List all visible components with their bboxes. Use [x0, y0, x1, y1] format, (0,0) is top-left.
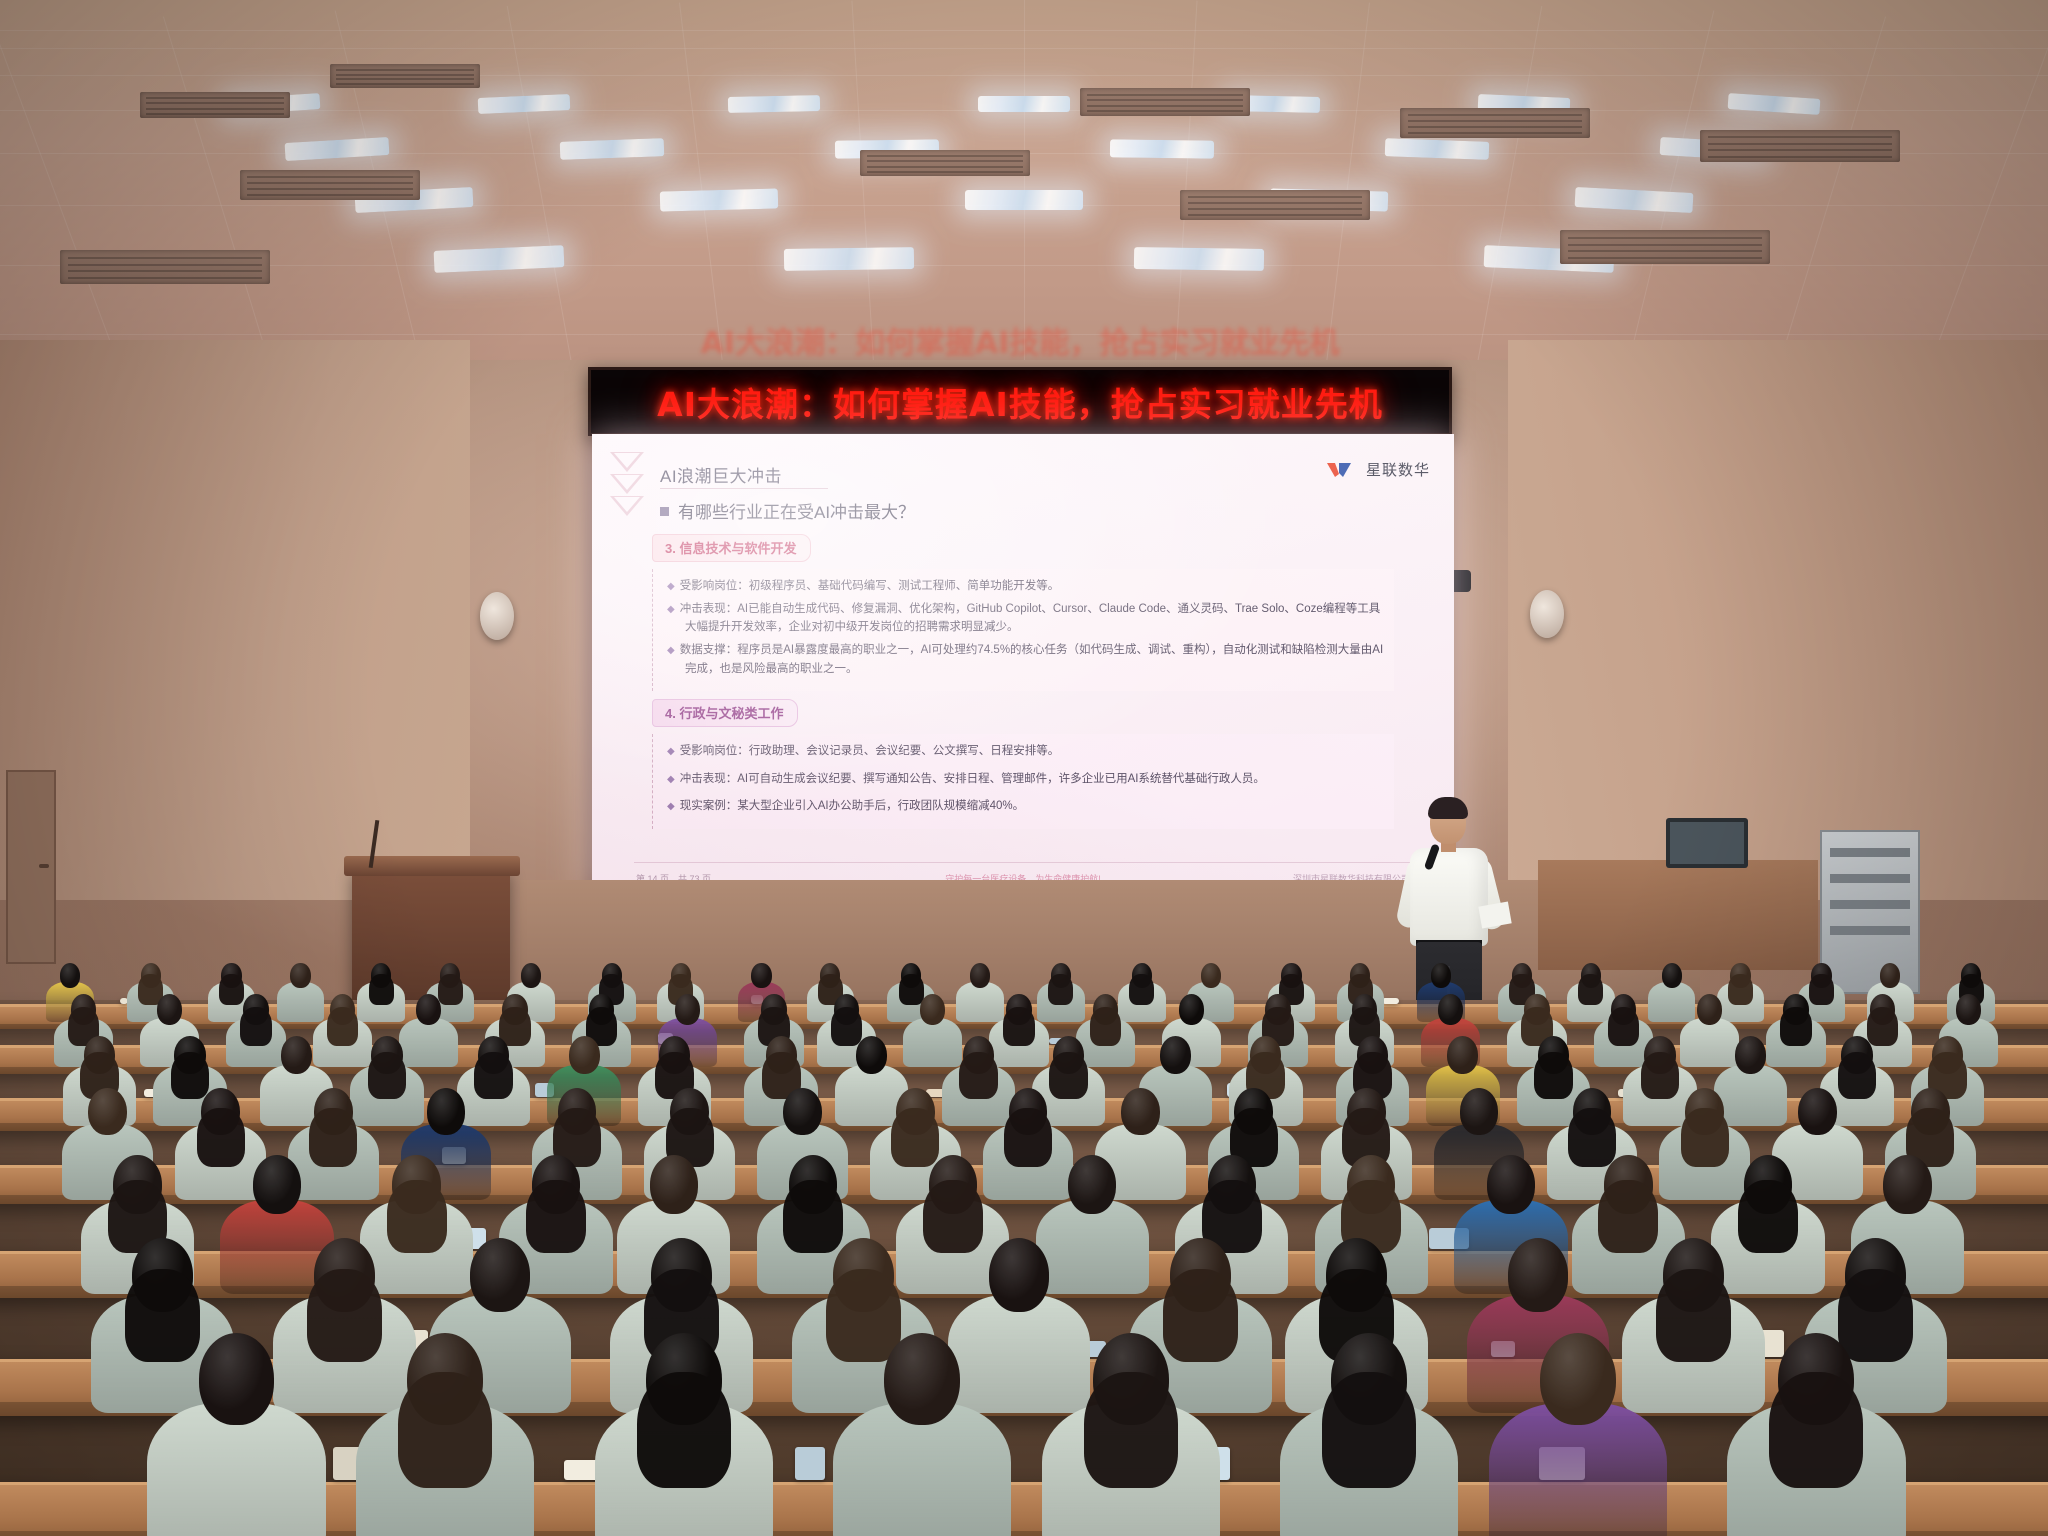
audience-member-hair [891, 1108, 939, 1167]
audience-member-hair [923, 1180, 983, 1254]
audience-member-hair [1004, 1108, 1052, 1167]
audience-member-head [470, 1238, 531, 1312]
presenter-shirt [1410, 848, 1488, 946]
audience-member-hair [387, 1180, 447, 1254]
audience-member-hair [783, 1180, 843, 1254]
diamond-icon: ◆ [667, 645, 675, 656]
diamond-icon: ◆ [667, 604, 675, 615]
audience-member-head [989, 1238, 1050, 1312]
list-item: ◆受影响岗位：初级程序员、基础代码编写、测试工程师、简单功能开发等。 [667, 577, 1384, 596]
audience-member-head [1956, 994, 1981, 1025]
slide-section-3: 3. 信息技术与软件开发 ◆受影响岗位：初级程序员、基础代码编写、测试工程师、简… [652, 534, 1394, 691]
audience-member-hair [1090, 1007, 1121, 1046]
lecture-hall-screenshot: AI大浪潮：如何掌握AI技能，抢占实习就业先机 AI大浪潮：如何掌握AI技能，抢… [0, 0, 2048, 1536]
audience-member-head [253, 1155, 301, 1214]
audience-member-body [1648, 982, 1696, 1022]
ceiling-air-vent [60, 250, 270, 284]
audience-member-head [1121, 1088, 1160, 1135]
audience-member-head [1735, 1036, 1766, 1074]
footer-divider [634, 862, 1412, 863]
list-item: ◆冲击表现：AI已能自动生成代码、修复漏洞、优化架构，GitHub Copilo… [667, 600, 1384, 637]
bullet-square-icon [660, 507, 669, 516]
ceiling-air-vent [1180, 190, 1370, 220]
audience-member-hair [1003, 1007, 1034, 1046]
list-item-continuation: 大幅提升开发效率，企业对初中级开发岗位的招聘需求明显减少。 [667, 618, 1384, 637]
audience-member-hair [240, 1007, 271, 1046]
list-item: ◆冲击表现：AI可自动生成会议纪要、撰写通知公告、安排日程、管理邮件，许多企业已… [667, 770, 1384, 789]
right-wall [1508, 340, 2048, 900]
audience-member-body [948, 1295, 1091, 1414]
ceiling-air-vent [860, 150, 1030, 176]
section-4-body: ◆受影响岗位：行政助理、会议记录员、会议纪要、公文撰写、日程安排等。 ◆冲击表现… [652, 734, 1394, 829]
ceiling-air-vent [240, 170, 420, 200]
audience-member-head [1487, 1155, 1535, 1214]
audience-member-head [1447, 1036, 1478, 1074]
audience-member-hair [219, 974, 244, 1005]
wall-speaker-right [1530, 590, 1564, 638]
presenter-hair [1428, 797, 1468, 819]
audience-member-hair [1838, 1269, 1913, 1362]
ceiling-air-vent [1560, 230, 1770, 264]
audience-member-head [675, 994, 700, 1025]
audience-member-head [783, 1088, 822, 1135]
audience-member-head [521, 963, 541, 988]
ceiling-light [965, 190, 1083, 210]
audience-member-hair [831, 1007, 862, 1046]
diamond-icon: ◆ [667, 581, 675, 592]
audience-member-head [569, 1036, 600, 1074]
audience-member-head [290, 963, 310, 988]
audience-member-head [1883, 1155, 1931, 1214]
list-item-text: 冲击表现：AI可自动生成会议纪要、撰写通知公告、安排日程、管理邮件，许多企业已用… [680, 773, 1265, 785]
audience-member-head [416, 994, 441, 1025]
list-item-text: 数据支撑：程序员是AI暴露度最高的职业之一，AI可处理约74.5%的核心任务（如… [680, 644, 1383, 656]
led-banner: AI大浪潮：如何掌握AI技能，抢占实习就业先机 [588, 367, 1452, 436]
audience-member-hair [526, 1180, 586, 1254]
audience-member-hair [1809, 974, 1834, 1005]
logo-text: 星联数华 [1366, 459, 1430, 480]
audience-member-head [970, 963, 990, 988]
section-3-heading: 3. 信息技术与软件开发 [652, 534, 811, 562]
list-item-text: 受影响岗位：初级程序员、基础代码编写、测试工程师、简单功能开发等。 [680, 580, 1060, 592]
audience-member-hair [1769, 1372, 1863, 1488]
company-logo: 星联数华 [1326, 459, 1430, 480]
audience-member-hair [1598, 1180, 1658, 1254]
audience-member-head [1798, 1088, 1837, 1135]
ceiling-light [1384, 138, 1489, 160]
slide-subtitle-text: 有哪些行业正在受AI冲击最大？ [678, 503, 915, 522]
desk-item [1382, 998, 1399, 1003]
audience-member-body [1680, 1018, 1739, 1068]
audience-member-head [1508, 1238, 1569, 1312]
audience-member-hair [899, 974, 924, 1005]
ceiling-light [559, 138, 664, 160]
audience-member-head [1179, 994, 1204, 1025]
audience-member-hair [309, 1108, 357, 1167]
audience-member-hair [197, 1108, 245, 1167]
led-banner-reflection: AI大浪潮：如何掌握AI技能，抢占实习就业先机 [600, 318, 1440, 358]
audience-member-head [650, 1155, 698, 1214]
audience-member-head [1438, 994, 1463, 1025]
ceiling-air-vent [1400, 108, 1590, 138]
led-banner-text: AI大浪潮：如何掌握AI技能，抢占实习就业先机 [591, 378, 1449, 426]
left-wall [0, 340, 470, 900]
audience-member-head [1431, 963, 1451, 988]
control-monitor [1666, 818, 1748, 868]
audience-member-hair [327, 1007, 358, 1046]
audience-member-head [1201, 963, 1221, 988]
audience-member-hair [1738, 1180, 1798, 1254]
audience-member-hair [1867, 1007, 1898, 1046]
audience-member-hair [307, 1269, 382, 1362]
audience-member-hair [368, 1052, 407, 1100]
audience-member-head [60, 963, 80, 988]
ceiling-light [660, 188, 778, 211]
list-item: ◆现实案例：某大型企业引入AI办公助手后，行政团队规模缩减40%。 [667, 797, 1384, 816]
audience-member-hair [1048, 974, 1073, 1005]
audience-member-hair [637, 1372, 731, 1488]
audience-member-hair [1129, 974, 1154, 1005]
logo-mark-icon [1326, 461, 1360, 479]
triangle-decor-icon [610, 452, 644, 518]
audience-member-head [1160, 1036, 1191, 1074]
audience-member-body [399, 1018, 458, 1068]
list-item: ◆受影响岗位：行政助理、会议记录员、会议纪要、公文撰写、日程安排等。 [667, 742, 1384, 761]
audience-member-head [1068, 1155, 1116, 1214]
audience-member-head [1880, 963, 1900, 988]
audience-member-hair [1049, 1052, 1088, 1100]
audience-member-hair [474, 1052, 513, 1100]
audience-member-hair [171, 1052, 210, 1100]
audience-member-head [1460, 1088, 1499, 1135]
audience-member-head [427, 1088, 466, 1135]
audience-member-head [199, 1333, 275, 1425]
diamond-icon: ◆ [667, 774, 675, 785]
list-item-continuation: 完成，也是风险最高的职业之一。 [667, 660, 1384, 679]
audience-member-head [88, 1088, 127, 1135]
wall-speaker-left [480, 592, 514, 640]
ceiling-air-vent [330, 64, 480, 88]
audience-member-hair [1534, 1052, 1573, 1100]
ceiling-air-vent [1080, 88, 1250, 116]
audience-member-body [956, 982, 1004, 1022]
audience-member-body [1714, 1065, 1787, 1126]
ceiling-light [728, 95, 820, 113]
audience-member-hair [1084, 1372, 1178, 1488]
list-item-text: 受影响岗位：行政助理、会议记录员、会议纪要、公文撰写、日程安排等。 [680, 745, 1060, 757]
audience-member-head [884, 1333, 960, 1425]
ceiling-light [1134, 247, 1264, 271]
control-desk [1538, 860, 1818, 970]
slide-title: AI浪潮巨大冲击 [660, 462, 782, 487]
audience-member-head [1540, 1333, 1616, 1425]
ceiling-light [784, 247, 914, 271]
audience-member-hair [1641, 1052, 1680, 1100]
ceiling-light [978, 96, 1070, 112]
desk-item [795, 1447, 825, 1480]
section-3-body: ◆受影响岗位：初级程序员、基础代码编写、测试工程师、简单功能开发等。 ◆冲击表现… [652, 569, 1394, 691]
audience-member-hair [1681, 1108, 1729, 1167]
av-equipment-rack [1820, 830, 1920, 994]
audience-member-body [277, 982, 325, 1022]
diamond-icon: ◆ [667, 746, 675, 757]
slide-subtitle: 有哪些行业正在受AI冲击最大？ [660, 498, 915, 523]
audience-member-hair [1163, 1269, 1238, 1362]
list-item: ◆数据支撑：程序员是AI暴露度最高的职业之一，AI可处理约74.5%的核心任务（… [667, 641, 1384, 678]
audience-member-hair [1578, 974, 1603, 1005]
audience-member-head [281, 1036, 312, 1074]
audience-member-head [856, 1036, 887, 1074]
section-4-heading: 4. 行政与文秘类工作 [652, 699, 798, 727]
slide-section-4: 4. 行政与文秘类工作 ◆受影响岗位：行政助理、会议记录员、会议纪要、公文撰写、… [652, 699, 1394, 829]
ceiling-light [1109, 139, 1213, 158]
audience-member-hair [369, 974, 394, 1005]
slide-title-rule [660, 488, 828, 489]
audience-member-hair [1656, 1269, 1731, 1362]
audience-member-head [1662, 963, 1682, 988]
audience-member-body [1036, 1200, 1149, 1295]
audience-member-hair [1608, 1007, 1639, 1046]
audience-member-body [903, 1018, 962, 1068]
ceiling-air-vent [1700, 130, 1900, 162]
ceiling-air-vent [140, 92, 290, 118]
audience-member-hair [959, 1052, 998, 1100]
audience-member-head [751, 963, 771, 988]
audience-member-head [1697, 994, 1722, 1025]
list-item-text: 冲击表现：AI已能自动生成代码、修复漏洞、优化架构，GitHub Copilot… [680, 603, 1381, 615]
audience-member-hair [125, 1269, 200, 1362]
audience-member-head [157, 994, 182, 1025]
audience-member-hair [1780, 1007, 1811, 1046]
audience-member-head [920, 994, 945, 1025]
audience-member-hair [1838, 1052, 1877, 1100]
side-door[interactable] [6, 770, 56, 964]
audience-member-hair [1322, 1372, 1416, 1488]
audience-member-hair [398, 1372, 492, 1488]
audience-member-hair [1728, 974, 1753, 1005]
audience-member-hair [1568, 1108, 1616, 1167]
list-item-text: 现实案例：某大型企业引入AI办公助手后，行政团队规模缩减40%。 [680, 800, 1024, 812]
audience-member-hair [826, 1269, 901, 1362]
projection-screen: AI浪潮巨大冲击 有哪些行业正在受AI冲击最大？ 星联数华 3. 信息技术与软件… [592, 434, 1454, 897]
audience-member-hair [438, 974, 463, 1005]
diamond-icon: ◆ [667, 801, 675, 812]
